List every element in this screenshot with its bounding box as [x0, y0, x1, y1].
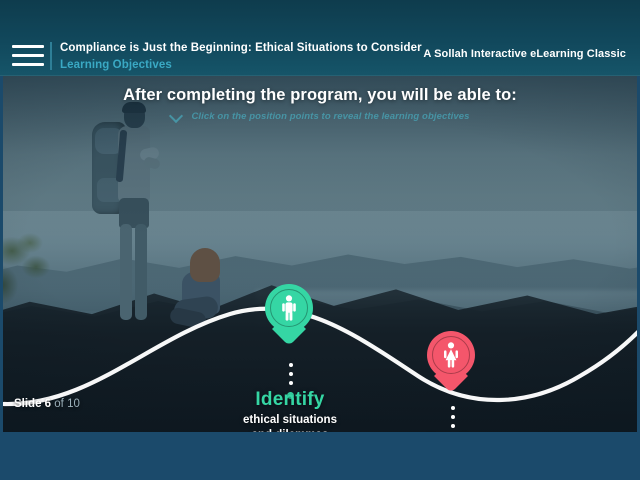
connector-dot — [451, 415, 455, 419]
header-divider — [50, 42, 52, 70]
chevron-down-icon — [170, 110, 182, 122]
hamburger-menu-icon[interactable] — [12, 45, 44, 67]
position-point-apply[interactable] — [427, 331, 475, 393]
female-figure-icon — [427, 331, 475, 379]
top-bar: Compliance is Just the Beginning: Ethica… — [0, 0, 640, 76]
connector-dot — [289, 381, 293, 385]
brand-line: A Sollah Interactive eLearning Classic — [423, 48, 626, 60]
objective-title: Identify — [210, 389, 370, 411]
slide-counter: Slide 6 of 10 — [14, 398, 80, 410]
slide-counter-total: of 10 — [54, 398, 80, 410]
connector-dot — [451, 406, 455, 410]
objective-label-identify[interactable]: Identify ethical situations and dilemmas — [210, 389, 370, 432]
hamburger-bar — [12, 54, 44, 57]
footer-bar — [0, 432, 640, 480]
male-figure-icon — [265, 284, 313, 332]
connector-dot — [289, 363, 293, 367]
slide-counter-current: Slide 6 — [14, 398, 51, 410]
position-point-identify[interactable] — [265, 284, 313, 346]
connector-dot — [289, 372, 293, 376]
frame-edge-left — [0, 76, 3, 432]
page-title: After completing the program, you will b… — [0, 86, 640, 105]
instruction-row: Click on the position points to reveal t… — [0, 110, 640, 122]
journey-path-curve — [0, 76, 640, 432]
objective-description-line: ethical situations — [243, 414, 337, 426]
instruction-text: Click on the position points to reveal t… — [191, 111, 469, 122]
slide-stage: Compliance is Just the Beginning: Ethica… — [0, 0, 640, 480]
header-title-block: Compliance is Just the Beginning: Ethica… — [60, 41, 422, 72]
section-label: Learning Objectives — [60, 58, 422, 72]
connector-dots-apply — [449, 406, 456, 432]
slide-canvas: After completing the program, you will b… — [0, 76, 640, 432]
course-title: Compliance is Just the Beginning: Ethica… — [60, 41, 422, 55]
hamburger-bar — [12, 45, 44, 48]
hamburger-bar — [12, 63, 44, 66]
connector-dot — [451, 424, 455, 428]
objective-description: ethical situations and dilemmas — [210, 413, 370, 432]
